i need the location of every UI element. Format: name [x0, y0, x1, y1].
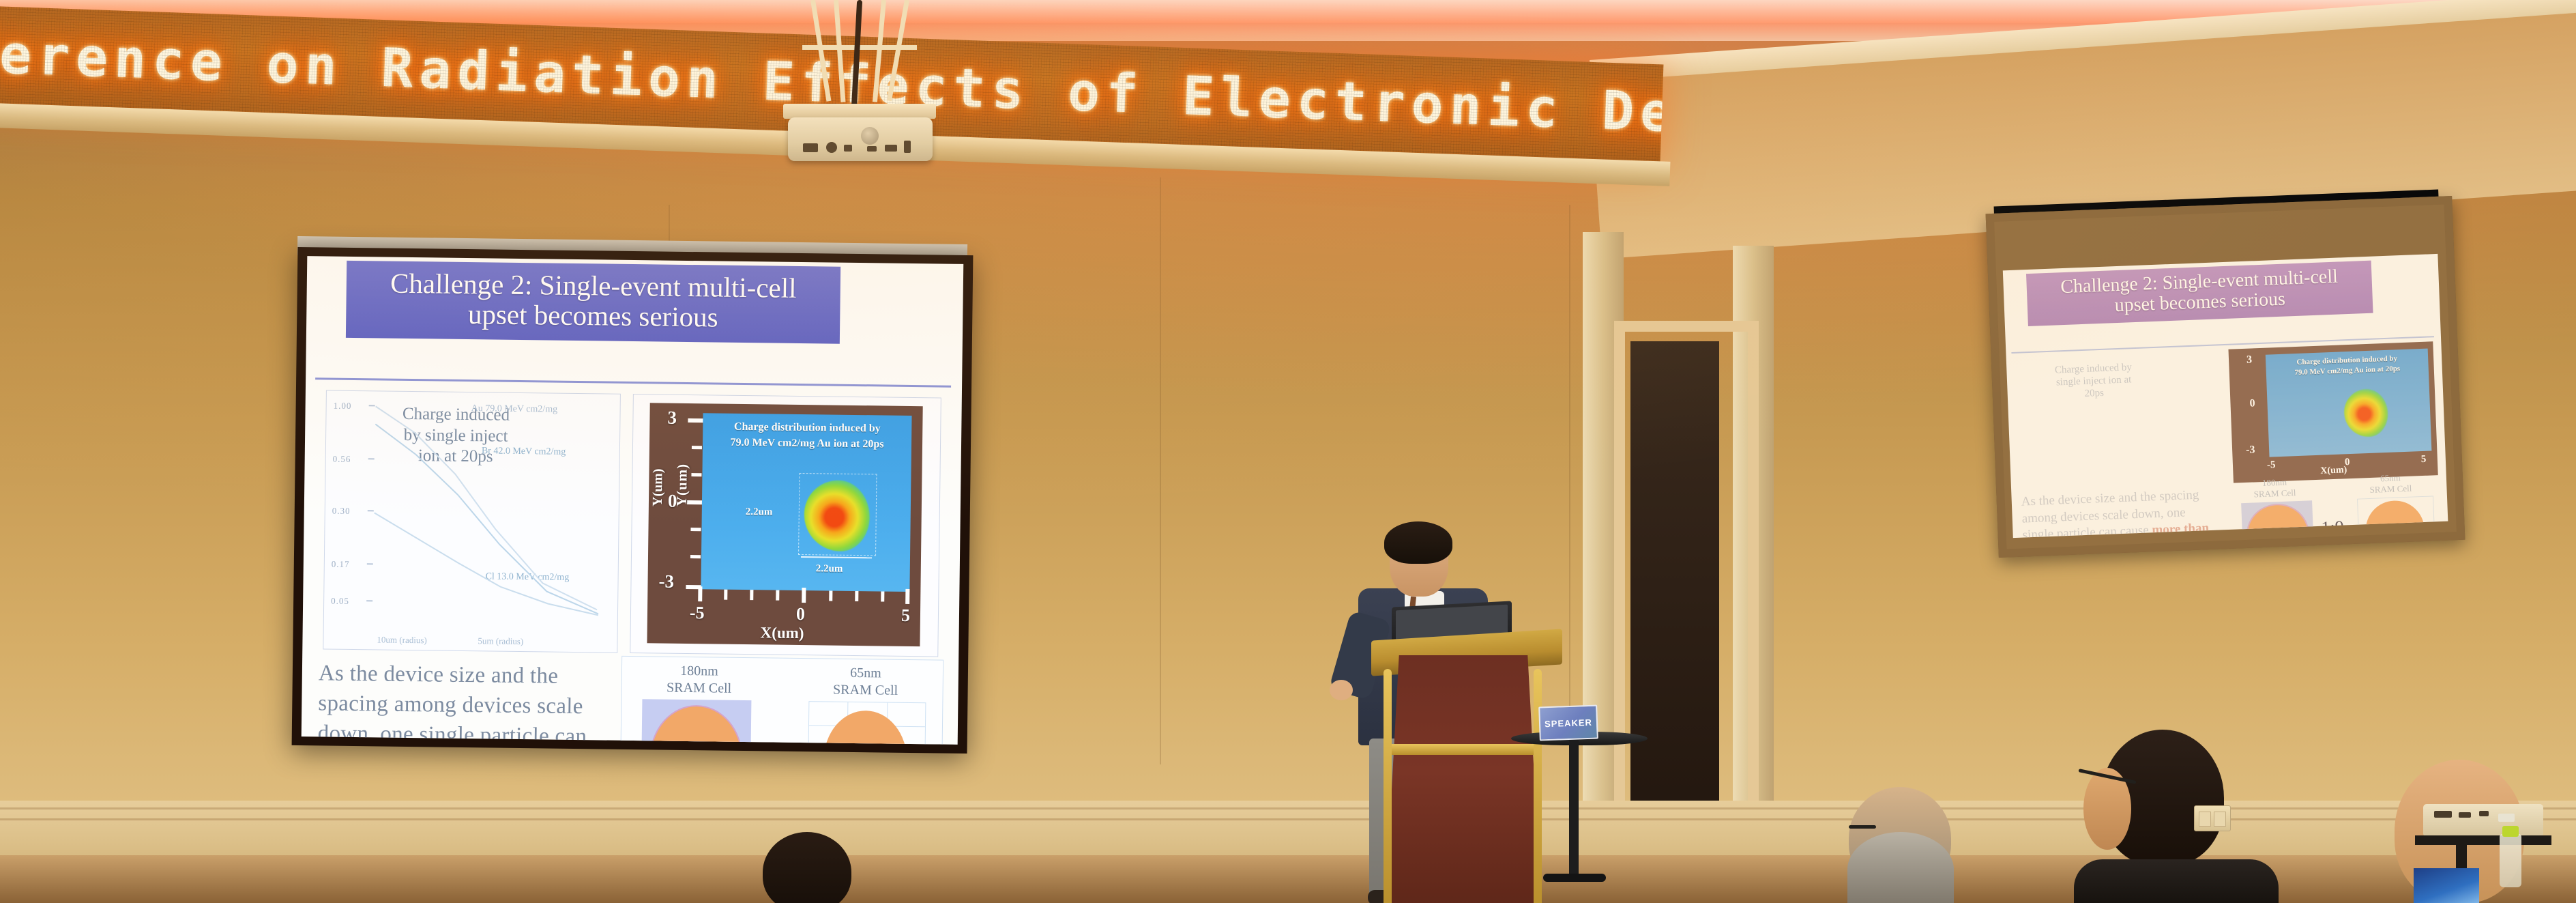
y-axis-label-outer: Y(um) [673, 463, 691, 507]
sram-right-heading: 65nm SRAM Cell [800, 664, 931, 700]
heatmap-title-line-2: 79.0 MeV cm2/mg Au ion at 20ps [703, 434, 911, 453]
rear-projector-label [2498, 814, 2515, 822]
heatmap-plot-area: Charge distribution induced by 79.0 MeV … [701, 413, 911, 592]
slide-main: Challenge 2: Single-event multi-cell ups… [302, 256, 964, 745]
slide-title: Challenge 2: Single-event multi-cell ups… [346, 261, 840, 343]
side-table-stem [1569, 740, 1579, 876]
sram-180nm-cell-box: 4um² [641, 699, 751, 745]
x-minor-tick [750, 590, 753, 600]
slide-title-divider [315, 377, 951, 387]
audience-member-left [744, 828, 880, 903]
sram-65nm-cell-grid: 0.5um² [807, 701, 926, 745]
y-tick-label-3: 3 [667, 407, 677, 429]
speaker-placard: SPEAKER [1538, 705, 1598, 741]
water-bottle-cap [2502, 826, 2519, 837]
x-major-tick [802, 588, 806, 603]
projector-port [885, 145, 897, 152]
switch-rocker [2214, 812, 2226, 827]
speaker-hand [1330, 680, 1353, 700]
conference-photo-scene: nference on Radiation Effects of Electro… [0, 0, 2576, 903]
x-minor-tick [724, 590, 727, 600]
sram-right-node: 65nm [801, 664, 931, 683]
y-minor-tick [690, 555, 701, 558]
monitor-sram-180nm-circle [2246, 504, 2309, 539]
projector-port [803, 143, 818, 152]
projector-port [867, 146, 877, 152]
audience-shoulders [2074, 859, 2279, 903]
sram-right-celltype: SRAM Cell [800, 681, 930, 700]
wall-seam [1160, 177, 1161, 764]
x-minor-tick [776, 590, 779, 601]
x-minor-tick [829, 591, 832, 601]
projector-port [904, 141, 911, 153]
sram-left-celltype: SRAM Cell [634, 679, 763, 698]
monitor-sram-right-heading: 65nm SRAM Cell [2350, 472, 2432, 496]
x-tick-label-0: 0 [796, 604, 805, 625]
wall-light-switch[interactable] [2194, 805, 2231, 831]
x-axis-caption-left: 10um (radius) [377, 634, 426, 646]
monitor-x-tick-5: 5 [2421, 454, 2427, 465]
monitor-chart-right: Charge distribution induced by 79.0 MeV … [2228, 341, 2438, 483]
x-tick-label-neg5: -5 [690, 603, 705, 623]
monitor-sram-65nm-grid [2357, 496, 2436, 538]
confidence-monitor[interactable]: Challenge 2: Single-event multi-cell ups… [1986, 196, 2465, 558]
monitor-body-text: As the device size and the spacing among… [2021, 486, 2222, 538]
projection-screen[interactable]: Challenge 2: Single-event multi-cell ups… [292, 247, 974, 754]
projector-port [844, 145, 852, 152]
sram-left-node: 180nm [634, 662, 764, 680]
rear-projector-port [2479, 811, 2489, 816]
audience-glasses [1849, 825, 1876, 829]
sram-ratio-label: 1:9 [760, 741, 803, 745]
annotation-vertical-extent: 2.2um [746, 506, 773, 518]
projector-mount-plate [783, 104, 936, 119]
monitor-sram-180nm-box [2241, 500, 2315, 538]
audience-hair [1847, 832, 1954, 903]
y-major-tick [688, 418, 703, 422]
sram-65nm-strike-area [823, 710, 907, 744]
sram-left-heading: 180nm SRAM Cell [634, 662, 764, 698]
speaker-placard-label: SPEAKER [1545, 717, 1592, 728]
y-minor-tick [690, 528, 701, 531]
monitor-sram-65nm-circle [2365, 500, 2425, 538]
audience-member-center [1828, 766, 2006, 903]
monitor-chart-left: Charge induced by single inject ion at 2… [2019, 352, 2221, 485]
x-minor-tick [855, 591, 858, 601]
rear-projector-port [2459, 812, 2471, 818]
y-minor-tick [692, 446, 702, 449]
monitor-y-tick-0: 0 [2249, 397, 2255, 410]
switch-rocker [2199, 812, 2211, 827]
x-axis-caption-right: 5um (radius) [478, 635, 523, 647]
x-minor-tick [881, 591, 884, 601]
projector-mount-arm [873, 0, 886, 102]
chart-charge-vs-radius: Charge induced by single inject ion at 2… [323, 390, 621, 653]
audience-member-right [2074, 726, 2292, 903]
podium-trim-edge-right [1534, 669, 1542, 903]
chart-left-curves [323, 391, 620, 653]
monitor-heatmap-plot: Charge distribution induced by 79.0 MeV … [2266, 349, 2432, 457]
slide-monitor: Challenge 2: Single-event multi-cell ups… [2003, 254, 2448, 538]
projector-mount-arm [834, 0, 845, 102]
y-axis-title-text: Y(um) [650, 468, 666, 506]
y-tick-label-neg3: -3 [658, 571, 674, 592]
monitor-slide-title: Challenge 2: Single-event multi-cell ups… [2026, 261, 2373, 327]
x-major-tick [905, 589, 909, 604]
wall-seam [1569, 205, 1570, 751]
slide-body-text: As the device size and the spacing among… [317, 659, 605, 744]
x-major-tick [698, 586, 702, 601]
heatmap-frame: 3 0 -3 Y(um) Charge distribu [647, 403, 922, 646]
rear-projector [2423, 804, 2543, 837]
monitor-chart-left-note: Charge induced by single inject ion at 2… [2049, 361, 2139, 401]
chart-charge-distribution: 3 0 -3 Y(um) Charge distribu [630, 394, 941, 657]
body-text-part-1: As the device size and the spacing among… [317, 661, 587, 744]
monitor-x-tick-neg5: -5 [2267, 459, 2276, 471]
ceiling-projector [788, 117, 933, 161]
monitor-sram-ratio: 1:9 [2321, 517, 2344, 539]
extent-guide-box [798, 473, 877, 556]
projector-mount-arm [887, 0, 909, 101]
rear-projector-port [2434, 811, 2452, 818]
annotation-horizontal-extent: 2.2um [816, 563, 843, 575]
projector-port [826, 142, 837, 153]
podium-trim-band [1392, 744, 1536, 755]
extent-guide-arrow [801, 556, 872, 558]
y-minor-tick [691, 473, 701, 476]
speaker-podium [1385, 655, 1542, 903]
doorway-frame [1614, 321, 1759, 837]
x-axis-title: X(um) [760, 624, 804, 642]
projector-mount-arm [810, 0, 831, 102]
side-table-base [1543, 874, 1606, 882]
monitor-y-tick-3: 3 [2246, 354, 2253, 366]
monitor-sram-left-heading: 180nm SRAM Cell [2234, 476, 2316, 500]
rear-projector-table [2415, 835, 2551, 845]
sram-180nm-strike-area [650, 706, 742, 744]
audience-head [763, 832, 851, 903]
x-tick-label-5: 5 [901, 605, 910, 626]
monitor-charge-blob [2343, 388, 2389, 438]
display-poster [2414, 868, 2479, 903]
monitor-sram-panel: 180nm SRAM Cell 65nm SRAM Cell 1:9 [2229, 471, 2447, 538]
podium-trim-edge-left [1384, 669, 1392, 903]
heatmap-title: Charge distribution induced by 79.0 MeV … [703, 418, 912, 453]
slide-title-line-1: Challenge 2: Single-event multi-cell [355, 268, 832, 304]
monitor-y-tick-neg3: -3 [2246, 444, 2255, 456]
monitor-sram-left-type: SRAM Cell [2234, 487, 2316, 500]
projector-lens [861, 127, 879, 145]
sram-comparison-panel: 180nm SRAM Cell 65nm SRAM Cell 4um² 2um … [619, 656, 943, 745]
speaker-hair [1384, 521, 1452, 564]
monitor-sram-right-type: SRAM Cell [2350, 482, 2432, 496]
monitor-heatmap-title: Charge distribution induced by 79.0 MeV … [2266, 353, 2429, 380]
y-axis-title: Y(um) [650, 468, 667, 506]
water-bottle [2500, 834, 2521, 887]
